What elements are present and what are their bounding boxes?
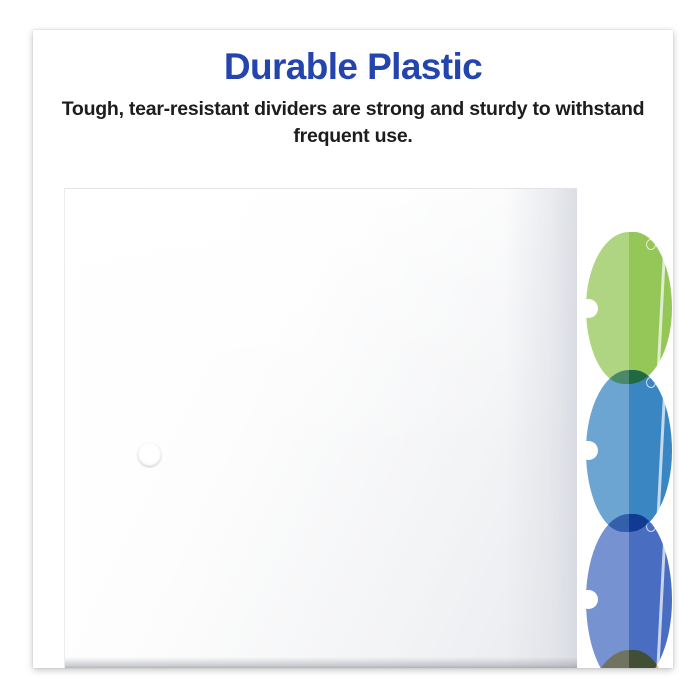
tab-green-notch xyxy=(579,299,598,318)
divider-sheet xyxy=(64,188,577,668)
tab-blue-eyelet xyxy=(646,377,656,388)
sheet-bottom-shadow xyxy=(65,657,577,668)
page-title: Durable Plastic xyxy=(33,46,673,87)
tab-green-eyelet xyxy=(646,239,656,250)
product-card: Durable Plastic Tough, tear-resistant di… xyxy=(33,30,673,668)
tab-blue xyxy=(586,370,672,532)
sheet-gloss-overlay xyxy=(65,189,577,668)
marketing-copy-block: Durable Plastic Tough, tear-resistant di… xyxy=(33,46,673,149)
punch-hole-top xyxy=(138,443,161,466)
page-subtitle: Tough, tear-resistant dividers are stron… xyxy=(33,96,673,149)
tab-green xyxy=(586,232,672,384)
tab-royal-notch xyxy=(579,590,598,609)
tab-yellow-light-half xyxy=(586,650,629,668)
product-image-canvas: Durable Plastic Tough, tear-resistant di… xyxy=(0,0,700,700)
tab-royal xyxy=(586,514,672,668)
tab-royal-eyelet xyxy=(646,521,656,532)
tab-stack xyxy=(558,218,673,668)
